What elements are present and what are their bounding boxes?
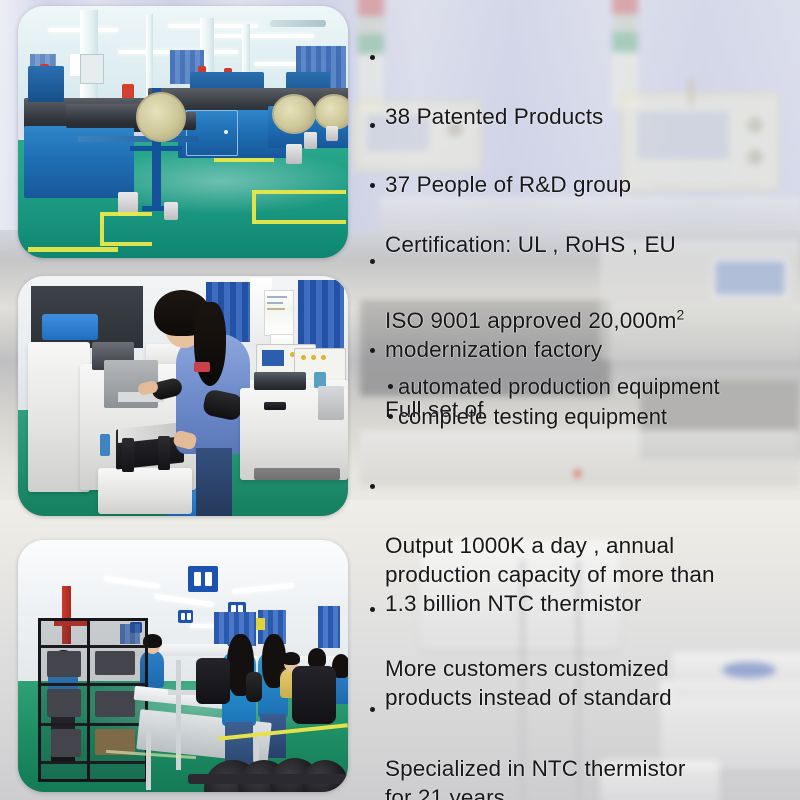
wire-spool (164, 202, 178, 220)
sub-bullet-automated-production: automated production equipment (388, 372, 720, 401)
bullet-dot-icon (370, 259, 375, 264)
bullet-dot-icon (370, 183, 375, 188)
sub-bullet-text: complete testing equipment (398, 402, 667, 431)
wall-box (80, 54, 104, 84)
component-rack (38, 618, 148, 782)
black-component-bundle (196, 658, 230, 704)
machine-motor (100, 434, 110, 456)
bullet-dot-icon (370, 348, 375, 353)
support-arm (130, 146, 182, 151)
machine-handle (224, 130, 228, 134)
machine-handle (264, 402, 286, 410)
bullet-dot-icon (370, 607, 375, 612)
blue-crate (42, 314, 98, 340)
machine-block (122, 438, 134, 472)
worker-trousers (196, 448, 232, 516)
wire-spool (304, 132, 317, 149)
conveyor-beam (78, 136, 198, 142)
machine-block (158, 436, 170, 470)
floor-lane-marking (254, 220, 346, 224)
bullet-dot-icon (370, 55, 375, 60)
sub-bullet-dot-icon (388, 414, 393, 419)
machine-head (254, 372, 306, 390)
indicator-led (321, 355, 326, 360)
floor-lane-marking (28, 247, 118, 252)
floor-lane-marking (102, 242, 152, 246)
machine-base (98, 468, 192, 514)
floor-lane-marking (254, 190, 346, 194)
chart-line (267, 308, 285, 310)
machine-shadow (254, 468, 340, 480)
safety-sign-icon (178, 610, 193, 623)
bench-leg (176, 660, 181, 770)
indicator-led (301, 355, 306, 360)
bench-leg (146, 730, 151, 790)
coil-shaft (188, 774, 348, 784)
sub-bullet-dot-icon (388, 384, 393, 389)
bullet-dot-icon (370, 123, 375, 128)
sub-bullet-text: automated production equipment (398, 372, 720, 401)
bullet-specialized-years: Specialized in NTC thermistor for 21 yea… (366, 696, 686, 800)
wire-reel (272, 94, 316, 134)
photo-worker-at-machine (18, 276, 348, 516)
sub-bullet-complete-testing: complete testing equipment (388, 402, 667, 431)
worker-ponytail (194, 302, 226, 386)
floor-lane-marking (252, 190, 256, 224)
floor-lane-marking (100, 212, 104, 246)
wall-notice (256, 618, 265, 630)
bullet-dot-icon (370, 707, 375, 712)
ceiling-fan (270, 20, 326, 27)
uniform-logo (194, 362, 210, 372)
black-component-bundle (292, 666, 336, 724)
control-screen (262, 350, 284, 366)
floor-lane-marking (214, 158, 274, 162)
wall-notice (70, 54, 80, 76)
photo-winding-machine-hall (18, 6, 348, 258)
wire-spool (326, 126, 338, 141)
chart-line (267, 302, 283, 304)
window-blind (318, 606, 340, 648)
company-capabilities-slide: 38 Patented Products 37 People of R&D gr… (0, 0, 800, 800)
safety-sign-icon (188, 566, 218, 592)
wire-reel (136, 92, 186, 142)
bullet-text: Specialized in NTC thermistor for 21 yea… (385, 754, 686, 800)
machine-module (318, 386, 344, 420)
bullet-list: 38 Patented Products 37 People of R&D gr… (366, 0, 800, 800)
chart-line (267, 296, 287, 298)
bullet-dot-icon (370, 484, 375, 489)
floor-lane-marking (102, 212, 152, 216)
wire-spool (286, 144, 302, 164)
ceiling-lamp (204, 34, 314, 38)
indicator-led (311, 355, 316, 360)
wire-reel (314, 94, 348, 130)
blue-machine (28, 66, 64, 102)
photo-assembly-line-hall (18, 540, 348, 792)
